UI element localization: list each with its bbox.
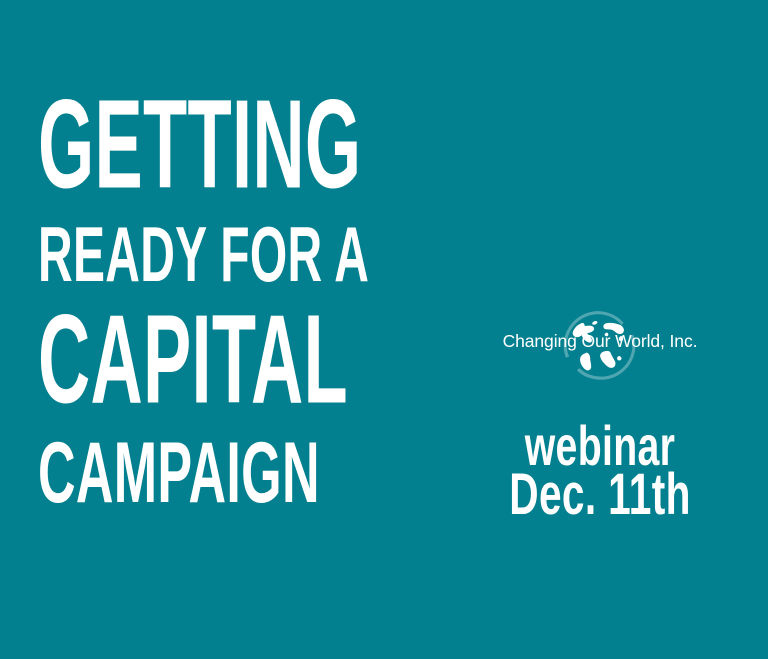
- headline-line-campaign: CAMPAIGN: [38, 430, 292, 516]
- event-date-label: Dec. 11th: [509, 466, 691, 524]
- headline-line-ready-for-a: READY FOR A: [38, 215, 296, 293]
- event-date-row: Dec. 11th: [470, 466, 730, 518]
- headline-row-1: GETTING: [38, 82, 458, 215]
- headline-row-2: READY FOR A: [38, 215, 458, 297]
- company-logo: Changing Our World, Inc.: [470, 300, 730, 398]
- brand-and-event-column: Changing Our World, Inc. webinar Dec. 11…: [470, 300, 730, 398]
- headline-line-capital: CAPITAL: [38, 297, 275, 423]
- event-type-row: webinar: [470, 418, 730, 466]
- headline-block: GETTING READY FOR A CAPITAL CAMPAIGN: [38, 82, 458, 500]
- event-info-block: webinar Dec. 11th: [470, 418, 730, 518]
- headline-row-4: CAMPAIGN: [38, 430, 458, 500]
- webinar-promo-poster: GETTING READY FOR A CAPITAL CAMPAIGN: [0, 0, 768, 659]
- logo-wordmark: Changing Our World, Inc.: [470, 333, 730, 351]
- headline-line-getting: GETTING: [38, 82, 275, 208]
- headline-row-3: CAPITAL: [38, 297, 458, 430]
